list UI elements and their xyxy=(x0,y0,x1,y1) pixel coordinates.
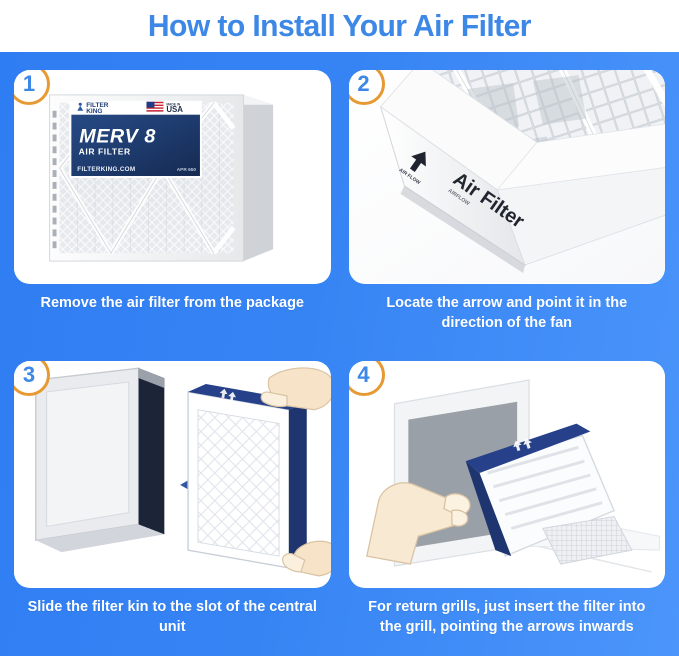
svg-text:MERV 8: MERV 8 xyxy=(79,125,156,147)
step-2-card: 2 xyxy=(349,70,666,284)
step-3-caption: Slide the filter kin to the slot of the … xyxy=(14,598,331,637)
step-3-number: 3 xyxy=(23,364,35,386)
svg-text:USA: USA xyxy=(166,105,183,114)
step-4: 4 xyxy=(349,361,666,646)
sliding-filter-into-slot-illustration xyxy=(14,361,331,588)
svg-text:APR 650: APR 650 xyxy=(177,167,197,173)
step-4-caption: For return grills, just insert the filte… xyxy=(349,598,666,637)
step-3: 3 xyxy=(14,361,331,646)
steps-grid: 1 xyxy=(0,52,679,656)
step-1-caption: Remove the air filter from the package xyxy=(14,294,331,314)
svg-text:KING: KING xyxy=(86,108,102,115)
step-4-number: 4 xyxy=(357,364,369,386)
step-2-number: 2 xyxy=(357,73,369,95)
page-title: How to Install Your Air Filter xyxy=(148,8,531,44)
central-unit-slot xyxy=(36,368,165,552)
header-bar: How to Install Your Air Filter xyxy=(0,0,679,52)
step-2-caption: Locate the arrow and point it in the dir… xyxy=(349,294,666,333)
infographic-root: How to Install Your Air Filter 1 xyxy=(0,0,679,656)
return-grill-insert-illustration xyxy=(349,361,666,588)
step-1: 1 xyxy=(14,70,331,355)
step-3-card: 3 xyxy=(14,361,331,588)
step-1-number: 1 xyxy=(23,73,35,95)
step-1-card: 1 xyxy=(14,70,331,284)
step-4-card: 4 xyxy=(349,361,666,588)
filter-corner-with-arrow-photo: AIR FLOW Air Filter AIRFLOW xyxy=(349,70,666,284)
product-label: FILTER KING xyxy=(69,101,202,178)
filter-panel xyxy=(188,384,307,568)
air-filter-product-photo: FILTER KING xyxy=(14,70,331,284)
svg-text:AIR FILTER: AIR FILTER xyxy=(79,147,131,157)
step-2: 2 xyxy=(349,70,666,355)
svg-text:FILTERKING.COM: FILTERKING.COM xyxy=(77,166,135,173)
